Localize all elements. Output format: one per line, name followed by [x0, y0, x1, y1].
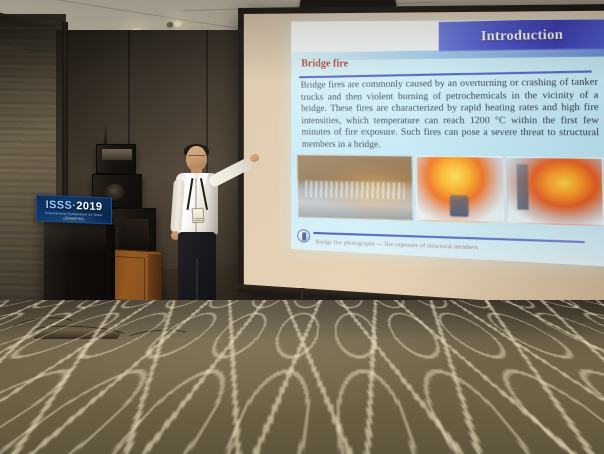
name-badge [192, 208, 205, 224]
patterned-ballroom-carpet [0, 300, 604, 454]
slide-title-banner: Introduction [439, 20, 604, 52]
podium-sign-year: 2019 [76, 200, 102, 213]
presentation-slide: Introduction Bridge fire Bridge fires ar… [291, 20, 604, 267]
university-seal-logo-icon [297, 229, 310, 243]
slide-photo [506, 157, 604, 226]
slide-photo [297, 154, 414, 220]
conference-room-photo: Introduction Bridge fire Bridge fires ar… [0, 0, 604, 454]
podium-event-sign: ISSS·2019 International Symposium on Ste… [36, 195, 112, 225]
podium-sign-acronym: ISSS [46, 199, 73, 212]
projection-screen: Introduction Bridge fire Bridge fires ar… [238, 4, 604, 319]
slide-body-text: Bridge fires are commonly caused by an o… [300, 76, 599, 153]
slide-section-heading: Bridge fire [301, 58, 348, 69]
sprinkler-head [167, 22, 173, 27]
glasses-icon [188, 155, 205, 159]
projection-screen-surface: Introduction Bridge fire Bridge fires ar… [244, 11, 604, 310]
shirt-placket [195, 178, 197, 234]
slide-banner-title: Introduction [481, 26, 563, 45]
slide-photo-row [297, 154, 604, 226]
presenter-right-arm-pointing [207, 157, 253, 189]
slide-photo [416, 156, 505, 224]
recessed-downlight [172, 20, 183, 28]
pa-speaker-top [96, 144, 136, 174]
